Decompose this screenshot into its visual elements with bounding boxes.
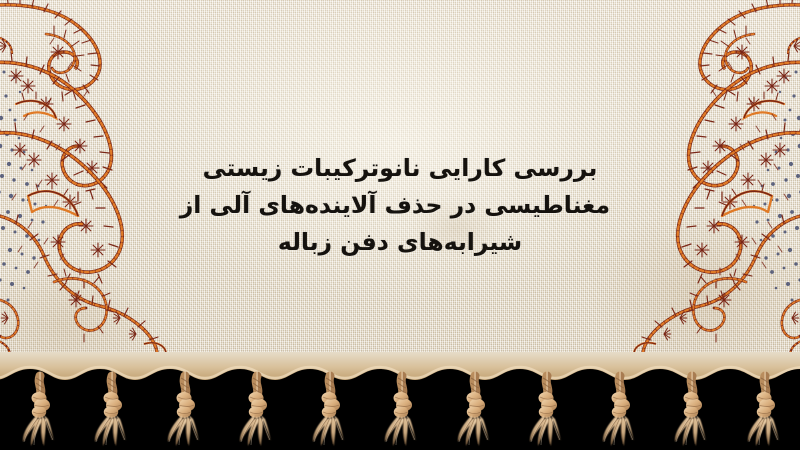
slide-title: بررسی کارایی نانوترکیبات زیستی مغناطیسی …: [190, 150, 610, 261]
title-line-1: بررسی کارایی نانوترکیبات زیستی: [190, 150, 610, 187]
boteh-bottom-scroll: [0, 207, 166, 364]
title-line-3: شیرابه‌های دفن زباله: [190, 224, 610, 261]
boteh-top: [0, 0, 100, 101]
slide-canvas: بررسی کارایی نانوترکیبات زیستی مغناطیسی …: [0, 0, 800, 450]
tassel-fringe: [0, 352, 800, 450]
title-line-2: مغناطیسی در حذف آلاینده‌های آلی از: [190, 187, 610, 224]
boteh-mid-lower: [0, 122, 122, 288]
